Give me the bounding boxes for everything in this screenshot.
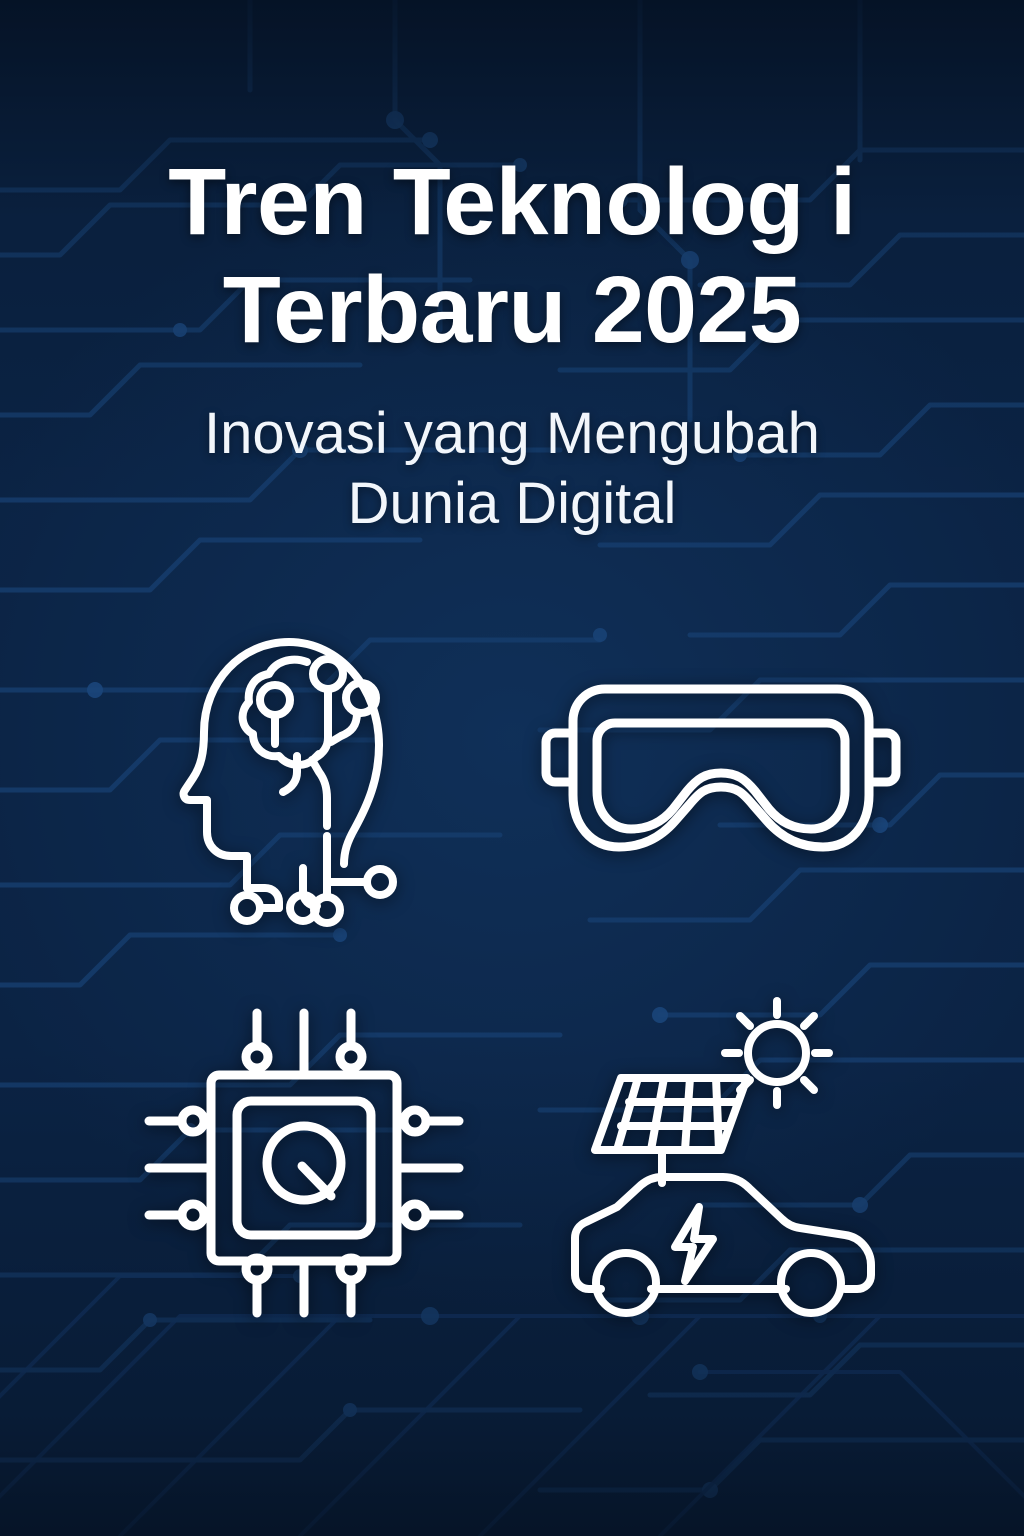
icon-cell-ai bbox=[100, 590, 507, 960]
quantum-chip-icon bbox=[139, 1003, 469, 1323]
subtitle-line-1: Inovasi yang Mengubah bbox=[0, 399, 1024, 470]
page-title: Tren Teknolog i Terbaru 2025 bbox=[0, 148, 1024, 365]
title-line-2: Terbaru 2025 bbox=[0, 256, 1024, 364]
icon-cell-vr bbox=[517, 590, 924, 960]
page-subtitle: Inovasi yang Mengubah Dunia Digital bbox=[0, 399, 1024, 541]
ai-brain-head-icon bbox=[179, 620, 429, 930]
poster-root: Tren Teknolog i Terbaru 2025 Inovasi yan… bbox=[0, 0, 1024, 1536]
title-line-1: Tren Teknolog i bbox=[0, 148, 1024, 256]
vr-goggles-icon bbox=[541, 675, 901, 875]
icon-cell-quantum bbox=[100, 978, 507, 1348]
subtitle-line-2: Dunia Digital bbox=[0, 469, 1024, 540]
icon-cell-green-energy bbox=[517, 978, 924, 1348]
technology-icon-grid bbox=[100, 590, 924, 1348]
solar-electric-car-icon bbox=[551, 993, 891, 1333]
